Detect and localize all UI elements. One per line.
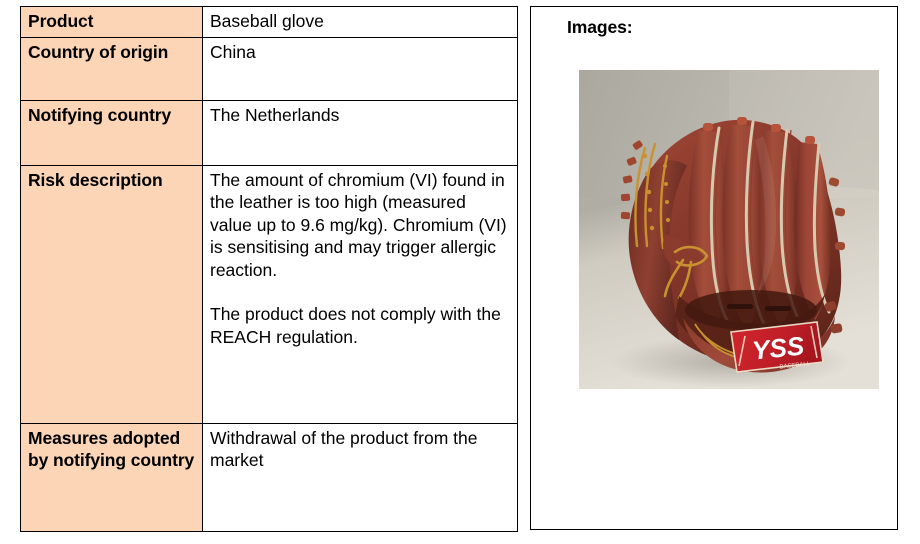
table-row-product: Product Baseball glove (21, 7, 518, 38)
table-row-measures-adopted: Measures adopted by notifying country Wi… (21, 424, 518, 532)
product-value-paragraph: Baseball glove (210, 10, 511, 32)
images-panel: Images: (530, 6, 898, 530)
images-panel-title: Images: (567, 17, 632, 38)
row-value-product: Baseball glove (203, 7, 518, 38)
brand-label-text: YSS (751, 330, 807, 365)
baseball-glove-illustration: YSS BASEBALL (579, 70, 879, 389)
origin-value-paragraph: China (210, 41, 511, 63)
notifying-country-value-paragraph: The Netherlands (210, 104, 511, 126)
row-label-notifying-country: Notifying country (21, 101, 203, 166)
table-row-risk-description: Risk description The amount of chromium … (21, 166, 518, 424)
row-value-risk-description: The amount of chromium (VI) found in the… (203, 166, 518, 424)
risk-paragraph-1: The amount of chromium (VI) found in the… (210, 169, 511, 281)
table-row-notifying-country: Notifying country The Netherlands (21, 101, 518, 166)
row-label-country-of-origin: Country of origin (21, 38, 203, 101)
page-root: Product Baseball glove Country of origin… (0, 0, 920, 544)
risk-paragraph-2: The product does not comply with the REA… (210, 303, 511, 348)
table-row-country-of-origin: Country of origin China (21, 38, 518, 101)
row-value-notifying-country: The Netherlands (203, 101, 518, 166)
row-value-measures-adopted: Withdrawal of the product from the marke… (203, 424, 518, 532)
row-value-country-of-origin: China (203, 38, 518, 101)
row-label-product: Product (21, 7, 203, 38)
row-label-measures-adopted: Measures adopted by notifying country (21, 424, 203, 532)
product-info-table: Product Baseball glove Country of origin… (20, 6, 518, 532)
row-label-risk-description: Risk description (21, 166, 203, 424)
measures-value-paragraph: Withdrawal of the product from the marke… (210, 427, 511, 472)
baseball-glove-photo: YSS BASEBALL (579, 70, 879, 389)
